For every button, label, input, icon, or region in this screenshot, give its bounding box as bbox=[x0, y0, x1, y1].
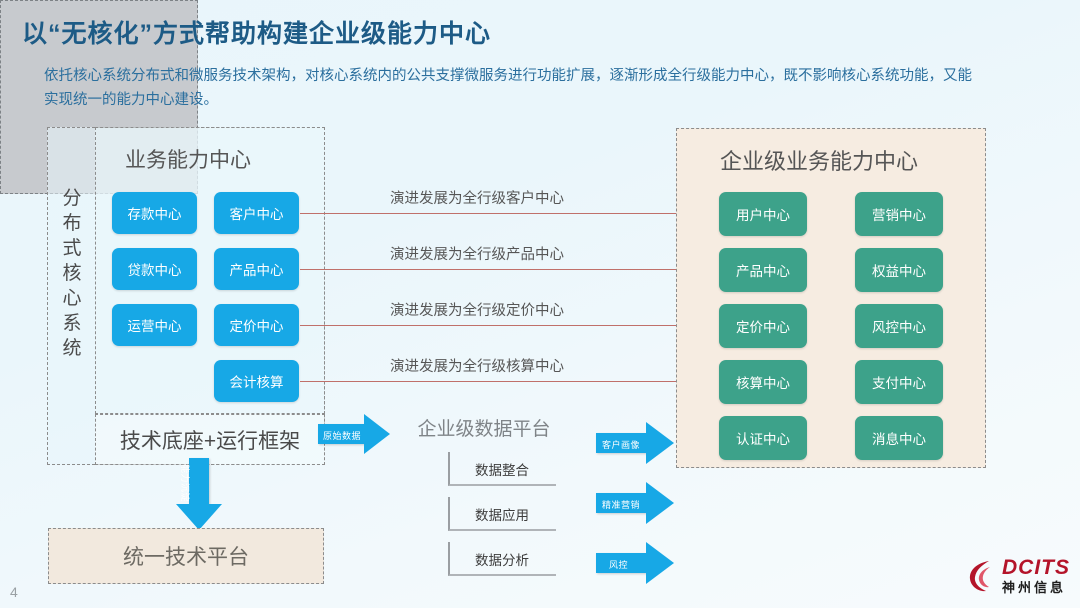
logo-cn: 神州信息 bbox=[1002, 581, 1070, 594]
customer-profile-arrow: 客户画像 bbox=[596, 422, 676, 464]
chip-rights-center[interactable]: 权益中心 bbox=[855, 248, 943, 292]
customer-profile-arrow-head bbox=[646, 422, 674, 464]
data-platform-title: 企业级数据平台 bbox=[386, 414, 582, 441]
chip-operation-center[interactable]: 运营中心 bbox=[112, 304, 197, 346]
data-platform-item-label: 数据分析 bbox=[448, 542, 556, 576]
customer-profile-arrow-label: 客户画像 bbox=[602, 438, 640, 451]
chip-user-center[interactable]: 用户中心 bbox=[719, 192, 807, 236]
evolve-line-customer bbox=[300, 213, 714, 214]
business-capability-center-title: 业务能力中心 bbox=[125, 144, 251, 174]
page-subtitle: 依托核心系统分布式和微服务技术架构，对核心系统内的公共支撑微服务进行功能扩展，逐… bbox=[44, 64, 974, 112]
chip-message-center[interactable]: 消息中心 bbox=[855, 416, 943, 460]
chip-accounting[interactable]: 会计核算 bbox=[214, 360, 299, 402]
logo-en: DCITS bbox=[1002, 557, 1070, 578]
page-title: 以“无核化”方式帮助构建企业级能力中心 bbox=[22, 14, 491, 50]
chip-auth-center[interactable]: 认证中心 bbox=[719, 416, 807, 460]
risk-control-arrow-label: 风控 bbox=[609, 558, 628, 571]
chip-deposit-center[interactable]: 存款中心 bbox=[112, 192, 197, 234]
chip-marketing-center[interactable]: 营销中心 bbox=[855, 192, 943, 236]
raw-data-arrow: 原始数据 bbox=[318, 414, 390, 454]
data-platform-item-label: 数据整合 bbox=[448, 452, 556, 486]
chip-risk-center[interactable]: 风控中心 bbox=[855, 304, 943, 348]
evolve-label-product: 演进发展为全行级产品中心 bbox=[390, 243, 564, 264]
data-platform-item-integration[interactable]: 数据整合 bbox=[448, 452, 556, 486]
dcits-mark-icon bbox=[967, 559, 997, 593]
chip-ent-accounting-center[interactable]: 核算中心 bbox=[719, 360, 807, 404]
evolve-line-product bbox=[300, 269, 714, 270]
chip-loan-center[interactable]: 贷款中心 bbox=[112, 248, 197, 290]
precision-marketing-arrow-head bbox=[646, 482, 674, 524]
evolve-label-customer: 演进发展为全行级客户中心 bbox=[390, 187, 564, 208]
chip-ent-pricing-center[interactable]: 定价中心 bbox=[719, 304, 807, 348]
enterprise-capability-center-title: 企业级业务能力中心 bbox=[720, 144, 918, 176]
capability-settling-arrow-label: 能力沉淀 bbox=[179, 464, 192, 502]
chip-payment-center[interactable]: 支付中心 bbox=[855, 360, 943, 404]
capability-settling-arrow-head bbox=[176, 504, 222, 530]
risk-control-arrow: 风控 bbox=[596, 542, 676, 584]
evolve-line-pricing bbox=[300, 325, 714, 326]
distributed-core-system-label: 分布式核心系统 bbox=[55, 186, 89, 361]
data-platform-item-application[interactable]: 数据应用 bbox=[448, 497, 556, 531]
chip-customer-center[interactable]: 客户中心 bbox=[214, 192, 299, 234]
raw-data-arrow-label: 原始数据 bbox=[323, 429, 361, 442]
risk-control-arrow-head bbox=[646, 542, 674, 584]
data-platform-item-label: 数据应用 bbox=[448, 497, 556, 531]
evolve-label-accounting: 演进发展为全行级核算中心 bbox=[390, 355, 564, 376]
slide-root: 以“无核化”方式帮助构建企业级能力中心 依托核心系统分布式和微服务技术架构，对核… bbox=[0, 0, 1080, 608]
evolve-label-pricing: 演进发展为全行级定价中心 bbox=[390, 299, 564, 320]
precision-marketing-arrow-label: 精准营销 bbox=[602, 498, 640, 511]
capability-settling-arrow-shaft bbox=[189, 458, 209, 506]
unified-tech-platform-label: 统一技术平台 bbox=[48, 528, 324, 584]
company-logo: DCITS 神州信息 bbox=[967, 557, 1070, 594]
evolve-line-accounting bbox=[300, 381, 714, 382]
chip-pricing-center[interactable]: 定价中心 bbox=[214, 304, 299, 346]
precision-marketing-arrow: 精准营销 bbox=[596, 482, 676, 524]
capability-settling-arrow: 能力沉淀 bbox=[176, 458, 222, 532]
logo-words: DCITS 神州信息 bbox=[1002, 557, 1070, 594]
page-number: 4 bbox=[10, 584, 18, 600]
data-platform-item-analysis[interactable]: 数据分析 bbox=[448, 542, 556, 576]
chip-ent-product-center[interactable]: 产品中心 bbox=[719, 248, 807, 292]
chip-product-center[interactable]: 产品中心 bbox=[214, 248, 299, 290]
